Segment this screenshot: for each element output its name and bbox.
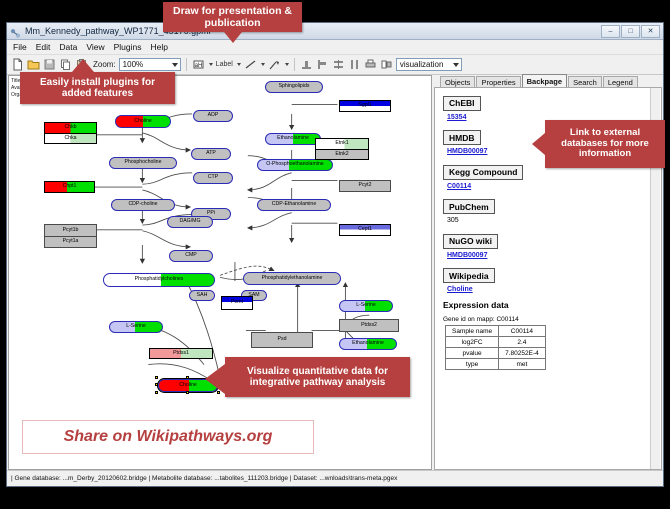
node-sah[interactable]: SAH <box>189 290 215 301</box>
node-phosphocholine[interactable]: Phosphocholine <box>109 157 177 169</box>
menu-bar: File Edit Data View Plugins Help <box>7 40 663 55</box>
minimize-button[interactable]: – <box>601 25 620 38</box>
section-heading-kegg: Kegg Compound <box>443 165 523 180</box>
link-kegg-compound[interactable]: C00114 <box>447 183 655 190</box>
node-dagmg[interactable]: DAG/MG <box>167 216 213 228</box>
maximize-button[interactable]: □ <box>621 25 640 38</box>
table-row: pvalue 7.80252E-4 <box>446 348 546 359</box>
gene-ptdss1[interactable]: Ptdss1 <box>149 348 213 359</box>
menu-plugins[interactable]: Plugins <box>114 42 142 52</box>
callout-install-plugins: Easily install plugins for added feature… <box>20 72 175 104</box>
label-tool-label[interactable]: Label <box>216 61 233 68</box>
status-bar: | Gene database: ...m_Derby_20120602.bri… <box>7 470 663 486</box>
callout-top-arrow-icon <box>224 32 242 43</box>
menu-help[interactable]: Help <box>151 42 168 52</box>
section-heading-nugo-wiki: NuGO wiki <box>443 234 498 249</box>
align-left-icon[interactable] <box>316 58 329 71</box>
expression-row-label: pvalue <box>446 348 499 359</box>
zoom-label: Zoom: <box>93 60 116 69</box>
node-l-serine-right[interactable]: L-Serine <box>339 300 393 312</box>
svg-text:aH: aH <box>194 63 202 69</box>
tab-backpage[interactable]: Backpage <box>522 74 567 88</box>
window-controls: – □ ✕ <box>601 25 660 38</box>
gene-group-etnk[interactable]: Etnk1 Etnk2 <box>315 138 369 160</box>
node-phosphatidylcholines[interactable]: Phosphatidylcholines <box>103 273 215 287</box>
chevron-down-icon <box>172 63 178 67</box>
gene-pcyt2[interactable]: Pcyt2 <box>339 180 391 192</box>
gene-group-chk[interactable]: Chkb Chka <box>44 122 97 144</box>
gene-psd[interactable]: Psd <box>251 332 313 348</box>
line-tool-icon[interactable] <box>244 58 257 71</box>
visualization-value: visualization <box>400 60 444 69</box>
table-row: Sample name C00114 <box>446 326 546 337</box>
node-choline-top[interactable]: Choline <box>115 115 171 128</box>
text-tool-chevron-icon[interactable] <box>209 63 213 66</box>
order-front-icon[interactable] <box>380 58 393 71</box>
callout-external-links: Link to external databases for more info… <box>545 120 665 168</box>
callout-visualize-arrow-icon <box>205 364 225 394</box>
callout-visualize-data: Visualize quantitative data for integrat… <box>225 357 410 397</box>
close-button[interactable]: ✕ <box>641 25 660 38</box>
resize-handle-s[interactable] <box>186 391 189 394</box>
gene-pcyt1a[interactable]: Pcyt1a <box>45 236 96 247</box>
callout-plugins-arrow-icon <box>72 59 94 72</box>
menu-data[interactable]: Data <box>59 42 77 52</box>
resize-handle-n[interactable] <box>186 376 189 379</box>
pathvisio-app-icon <box>10 26 21 37</box>
align-bottom-icon[interactable] <box>300 58 313 71</box>
node-adp[interactable]: ADP <box>193 110 233 122</box>
gene-etnk2[interactable]: Etnk2 <box>316 149 368 159</box>
node-phosphatidylethanolamine[interactable]: Phosphatidylethanolamine <box>243 272 341 285</box>
node-l-serine-left[interactable]: L-Serine <box>109 321 163 333</box>
link-wikipedia[interactable]: Choline <box>447 286 655 293</box>
gene-cept1[interactable]: Cept1 <box>339 224 391 236</box>
status-bar-text: | Gene database: ...m_Derby_20120602.bri… <box>7 475 397 482</box>
arrow-tool-icon[interactable] <box>268 58 281 71</box>
menu-file[interactable]: File <box>13 42 27 52</box>
section-heading-chebi: ChEBI <box>443 96 481 111</box>
distribute-vertical-icon[interactable] <box>332 58 345 71</box>
gene-group-pcyt1[interactable]: Pcyt1b Pcyt1a <box>44 224 97 248</box>
callout-draw-for-presentation: Draw for presentation & publication <box>163 2 302 32</box>
gene-ptdss2[interactable]: Ptdss2 <box>339 319 399 332</box>
expression-row-value: 7.80252E-4 <box>499 348 546 359</box>
node-ethanolamine-top[interactable]: Ethanolamine <box>265 133 321 145</box>
resize-handle-sw[interactable] <box>155 391 158 394</box>
node-ethanolamine-bottom[interactable]: Ethanolamine <box>339 338 397 350</box>
share-callout-text: Share on Wikipathways.org <box>64 428 273 446</box>
zoom-combo[interactable]: 100% <box>119 58 181 71</box>
screenshot-root: Mm_Kennedy_pathway_WP1771_45176.gpml – □… <box>0 0 670 509</box>
expression-row-value: 2.4 <box>499 337 546 348</box>
menu-edit[interactable]: Edit <box>36 42 51 52</box>
save-icon[interactable] <box>43 58 56 71</box>
node-atp[interactable]: ATP <box>191 148 231 160</box>
expression-row-label: Sample name <box>446 326 499 337</box>
distribute-horizontal-icon[interactable] <box>348 58 361 71</box>
title-bar: Mm_Kennedy_pathway_WP1771_45176.gpml – □… <box>7 23 663 40</box>
gene-chpt1[interactable]: Chpt1 <box>44 181 95 193</box>
gene-sgpl1[interactable]: Sgpl1 <box>339 100 391 112</box>
gene-chkb[interactable]: Chkb <box>45 123 96 133</box>
section-heading-wikipedia: Wikipedia <box>443 268 495 283</box>
expression-row-label: type <box>446 359 499 370</box>
pathway-drawing[interactable]: Title: Availa Organi <box>9 76 431 469</box>
section-heading-hmdb: HMDB <box>443 130 481 145</box>
link-nugo-wiki[interactable]: HMDB00097 <box>447 252 655 259</box>
node-cmp[interactable]: CMP <box>169 250 213 262</box>
visualization-chevron-down-icon <box>453 63 459 67</box>
print-icon[interactable] <box>364 58 377 71</box>
copy-icon[interactable] <box>59 58 72 71</box>
expression-row-label: log2FC <box>446 337 499 348</box>
label-tool-chevron-icon[interactable] <box>237 63 241 66</box>
pathway-canvas[interactable]: Title: Availa Organi <box>8 75 432 470</box>
resize-handle-nw[interactable] <box>155 376 158 379</box>
open-folder-icon[interactable] <box>27 58 40 71</box>
node-o-phosphoethanolamine[interactable]: O-Phosphoethanolamine <box>257 159 333 171</box>
zoom-value: 100% <box>123 60 143 69</box>
share-callout-box: Share on Wikipathways.org <box>22 420 314 454</box>
toolbar-separator <box>186 58 187 71</box>
gene-pemt[interactable]: Pemt <box>221 296 253 310</box>
new-file-icon[interactable] <box>11 58 24 71</box>
callout-links-arrow-icon <box>532 133 545 155</box>
node-cdp-ethanolamine[interactable]: CDP-Ethanolamine <box>257 199 331 211</box>
text-tool-icon[interactable]: aH <box>192 58 205 71</box>
table-row: log2FC 2.4 <box>446 337 546 348</box>
gene-pcyt1b[interactable]: Pcyt1b <box>45 225 96 236</box>
gene-id-on-mapp: Gene id on mapp: C00114 <box>443 316 655 323</box>
node-cdp-choline[interactable]: CDP-choline <box>111 199 175 211</box>
expression-table: Sample name C00114 log2FC 2.4 pvalue 7.8… <box>445 325 546 370</box>
resize-handle-w[interactable] <box>155 383 158 386</box>
gene-chka[interactable]: Chka <box>45 133 96 143</box>
section-heading-pubchem: PubChem <box>443 199 495 214</box>
menu-view[interactable]: View <box>86 42 104 52</box>
expression-row-value: met <box>499 359 546 370</box>
gene-etnk1[interactable]: Etnk1 <box>316 139 368 149</box>
visualization-combo[interactable]: visualization <box>396 58 462 71</box>
node-sphingolipids[interactable]: Sphingolipids <box>265 81 323 93</box>
expression-data-title: Expression data <box>443 300 655 310</box>
node-ctp[interactable]: CTP <box>193 172 233 184</box>
expression-row-value: C00114 <box>499 326 546 337</box>
table-row: type met <box>446 359 546 370</box>
toolbar-separator-2 <box>294 58 295 71</box>
line-tool-chevron-icon[interactable] <box>261 63 265 66</box>
arrow-tool-chevron-icon[interactable] <box>285 63 289 66</box>
value-pubchem: 305 <box>447 217 655 224</box>
